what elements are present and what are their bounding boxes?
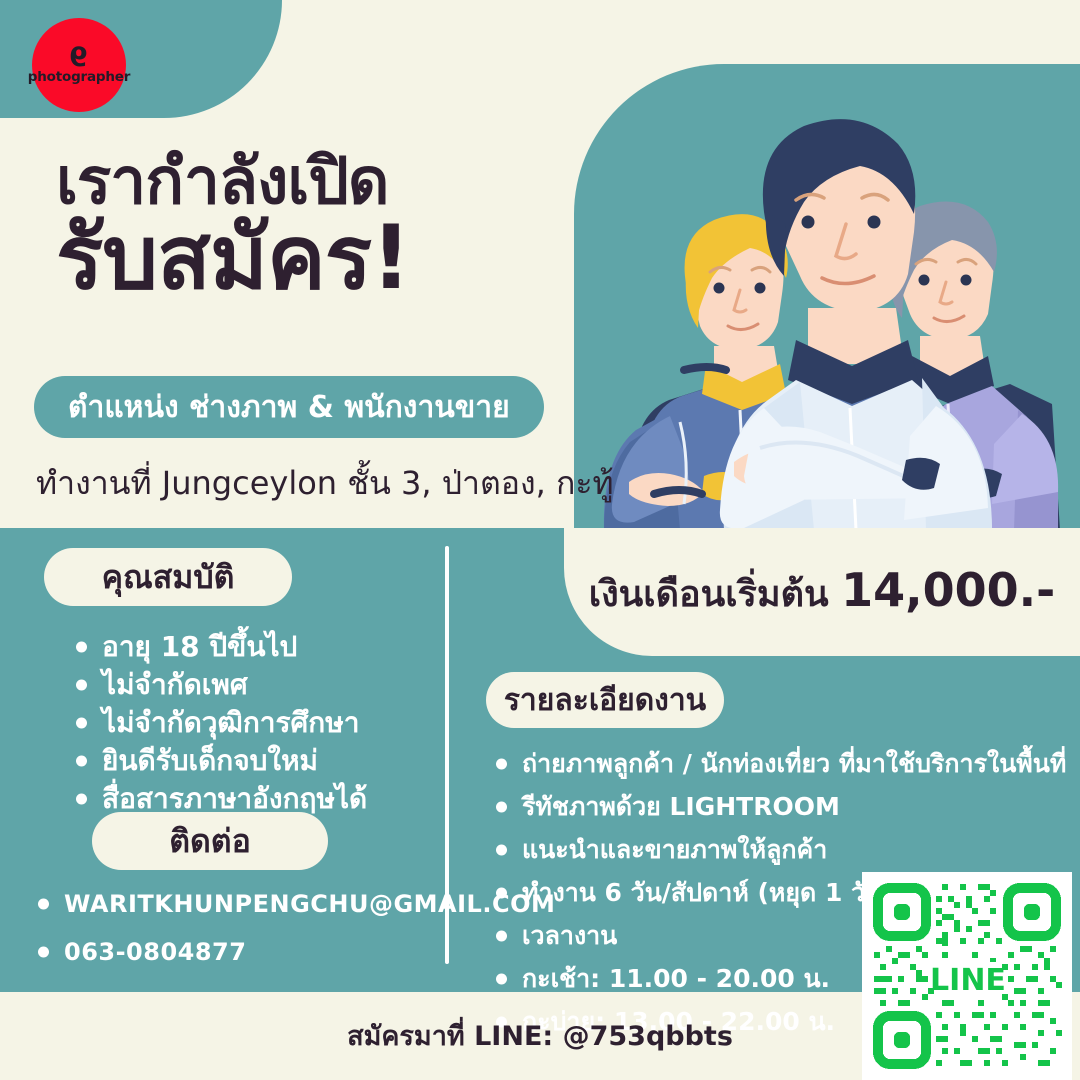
location-text: ทำงานที่ Jungceylon ชั้น 3, ป่าตอง, กะทู… <box>36 458 614 509</box>
job-details-header: รายละเอียดงาน <box>486 672 724 728</box>
contact-email[interactable]: WARITKHUNPENGCHU@GMAIL.COM <box>28 880 555 928</box>
list-item: รีทัชภาพด้วย LIGHTROOM <box>486 785 1066 828</box>
header-teal-block: 9 photographer <box>0 0 282 118</box>
salary-amount: 14,000.- <box>841 563 1055 617</box>
list-item: ถ่ายภาพลูกค้า / นักท่องเที่ยว ที่มาใช้บร… <box>486 742 1066 785</box>
list-item: แนะนำและขายภาพให้ลูกค้า <box>486 828 1066 871</box>
qualifications-header: คุณสมบัติ <box>44 548 292 606</box>
headline-line1: เรากำลังเปิด <box>56 152 576 213</box>
list-item: อายุ 18 ปีขึ้นไป <box>66 628 367 666</box>
qr-center-label: LINE <box>930 963 1006 998</box>
logo-glyph-icon: 9 <box>70 46 88 70</box>
salary-band: เงินเดือนเริ่มต้น 14,000.- <box>564 528 1080 656</box>
contact-phone[interactable]: 063-0804877 <box>28 928 555 976</box>
contact-list: WARITKHUNPENGCHU@GMAIL.COM 063-0804877 <box>28 880 555 976</box>
team-illustration <box>574 64 1080 530</box>
salary-label: เงินเดือนเริ่มต้น <box>589 574 829 615</box>
list-item: ไม่จำกัดเพศ <box>66 666 367 704</box>
list-item: ไม่จำกัดวุฒิการศึกษา <box>66 704 367 742</box>
headline: เรากำลังเปิด รับสมัคร! <box>56 152 576 301</box>
company-logo: 9 photographer <box>32 18 126 112</box>
logo-wordmark: photographer <box>28 71 130 85</box>
salary-text: เงินเดือนเริ่มต้น 14,000.- <box>589 563 1055 622</box>
recruitment-poster: 9 photographer <box>0 0 1080 1080</box>
contact-header: ติดต่อ <box>92 812 328 870</box>
headline-line2: รับสมัคร! <box>56 215 576 301</box>
position-badge: ตำแหน่ง ช่างภาพ & พนักงานขาย <box>34 376 544 438</box>
footer-apply-text: สมัครมาที่ LINE: @753qbbts <box>0 1014 1080 1057</box>
list-item: ยินดีรับเด็กจบใหม่ <box>66 742 367 780</box>
qualifications-list: อายุ 18 ปีขึ้นไป ไม่จำกัดเพศ ไม่จำกัดวุฒ… <box>66 628 367 818</box>
